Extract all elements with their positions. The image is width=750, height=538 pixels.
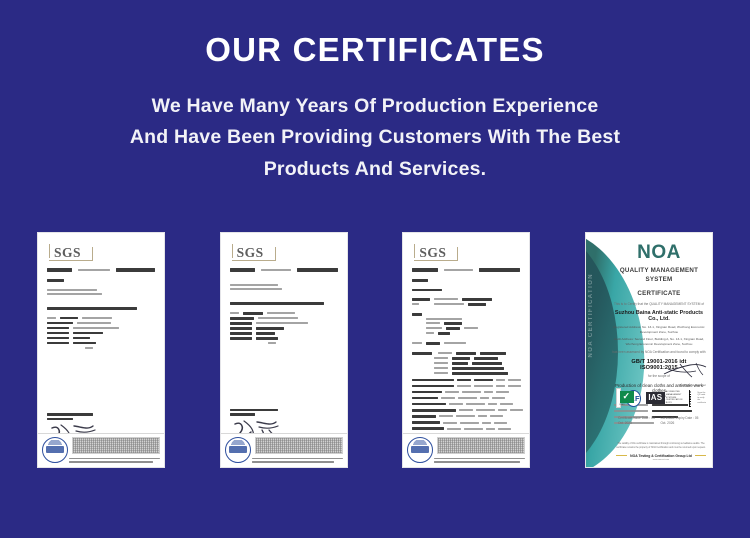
table-row (412, 421, 520, 426)
table-header-row (412, 379, 520, 384)
certificate-card-2[interactable]: SGS (220, 232, 348, 468)
subtitle-line-1: We Have Many Years Of Production Experie… (0, 91, 750, 123)
table-row (412, 403, 520, 408)
cnas-mark-icon: CNAS (616, 388, 621, 408)
sgs-footer-1 (38, 433, 164, 467)
sgs-seal-icon (407, 437, 433, 463)
table-row (412, 427, 520, 432)
certificate-card-1[interactable]: SGS (37, 232, 165, 468)
report-title-row (230, 268, 338, 274)
section-header: OUR CERTIFICATES We Have Many Years Of P… (0, 0, 750, 185)
noa-logo-text: NOA (612, 243, 706, 262)
noa-footer: The validity of this certificate is main… (616, 443, 706, 461)
noa-assessment-note: has been assessed by NOA Certification a… (612, 350, 706, 355)
sgs-logo-text: SGS (419, 245, 446, 261)
noa-company-name: Suzhou Baina Anti-static Products Co., L… (612, 310, 706, 322)
sgs-seal-icon (225, 437, 251, 463)
subtitle-line-3: Products And Services. (0, 154, 750, 186)
noa-audit-address: Audit Address: Second Floor, Building A,… (612, 337, 706, 347)
report-title-row (412, 268, 520, 274)
watermark-block (72, 437, 160, 454)
ias-label: IAS (646, 392, 665, 404)
noa-heading-line-1: QUALITY MANAGEMENT SYSTEM (612, 267, 706, 285)
page-title: OUR CERTIFICATES (0, 30, 750, 70)
table-row (412, 385, 520, 390)
sgs-seal-icon (42, 437, 68, 463)
certificate-gallery: SGS (37, 232, 713, 468)
noa-fineprint: The validity of this certificate is main… (616, 443, 706, 450)
certificate-card-3[interactable]: SGS (402, 232, 530, 468)
footer-fineprint (434, 458, 525, 465)
watermark-block (255, 437, 343, 454)
noa-group-name: NOA Testing & Certification Group Ltd (630, 454, 692, 458)
noa-signature-label: Certification Manager (679, 383, 706, 387)
sgs-report-page-3: SGS (403, 233, 529, 467)
noa-dates: Certificate Issue Date : 04 Oct. 2023 Ce… (618, 413, 704, 426)
noa-watermark: NOA CERTIFICATION (588, 273, 594, 357)
noa-registered-address: Registered Address: No. 13-1, Xingnan Ro… (612, 325, 706, 335)
section-subtitle: We Have Many Years Of Production Experie… (0, 91, 750, 186)
cnas-caption: CNAS (619, 404, 625, 406)
table-row (412, 391, 520, 396)
noa-certificate: NOA CERTIFICATION NOA QUALITY MANAGEMENT… (586, 233, 712, 467)
table-row (412, 397, 520, 402)
noa-statement: This is to Certify that the QUALITY MANA… (612, 302, 706, 307)
divider-right (695, 455, 706, 456)
sgs-footer-2 (221, 433, 347, 467)
table-row (412, 415, 520, 420)
sgs-logo-text: SGS (237, 245, 264, 261)
footer-fineprint (252, 458, 343, 465)
noa-signature-mark (662, 361, 708, 379)
noa-accreditation-marks: CNAS IAF IAS ACCREDITED MANAGEMENT SYSTE… (616, 388, 706, 408)
watermark-block (437, 437, 525, 454)
noa-heading-line-2: CERTIFICATE (612, 290, 706, 299)
noa-group-url: www.noacert.com (616, 459, 706, 461)
sgs-footer-3 (403, 433, 529, 467)
ias-sub: ACCREDITED MANAGEMENT SYSTEMS CERTIFICAT… (666, 391, 683, 406)
sgs-report-page-2: SGS (221, 233, 347, 467)
table-row (412, 409, 520, 414)
noa-issue-date: Certificate Issue Date : 04 Oct. 2023 (618, 416, 660, 426)
our-certificates-section: OUR CERTIFICATES We Have Many Years Of P… (0, 0, 750, 538)
sgs-logo-text: SGS (54, 245, 81, 261)
certificate-card-4[interactable]: NOA CERTIFICATION NOA QUALITY MANAGEMENT… (585, 232, 713, 468)
sgs-logo-icon: SGS (230, 244, 276, 261)
noa-group-line: NOA Testing & Certification Group Ltd (616, 454, 706, 458)
qr-code-icon[interactable] (688, 389, 693, 408)
sgs-logo-icon: SGS (47, 244, 93, 261)
qr-code-note: Scan the QR code to verify the certifica… (697, 392, 706, 405)
footer-fineprint (69, 458, 160, 465)
sgs-logo-icon: SGS (412, 244, 458, 261)
subtitle-line-2: And Have Been Providing Customers With T… (0, 122, 750, 154)
divider-left (616, 455, 627, 456)
sgs-report-page-1: SGS (38, 233, 164, 467)
report-title-row (47, 268, 155, 274)
ias-mark-icon: IAS ACCREDITED MANAGEMENT SYSTEMS CERTIF… (646, 391, 683, 406)
noa-expiry-date: Certificate Expiry Date : 05 Oct. 2026 (660, 416, 704, 426)
